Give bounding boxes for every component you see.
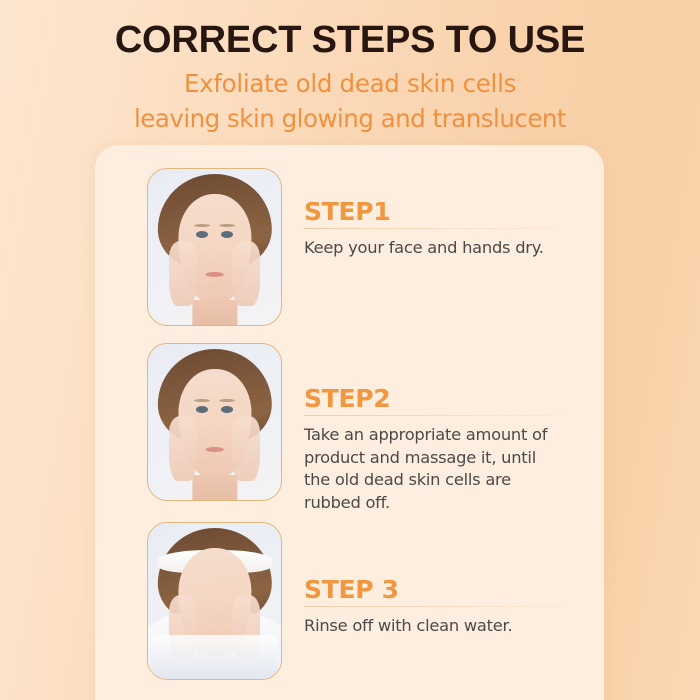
step-2-photo xyxy=(147,343,282,501)
eyebrow-right xyxy=(219,224,235,227)
step-3-body: Rinse off with clean water. xyxy=(304,607,548,638)
step-3-photo-image xyxy=(148,523,281,679)
step-1-text: STEP1 Keep your face and hands dry. xyxy=(282,168,604,260)
subtitle-line-2: leaving skin glowing and translucent xyxy=(0,98,700,133)
step-1-photo xyxy=(147,168,282,326)
steps-card: STEP1 Keep your face and hands dry. xyxy=(95,145,604,700)
eyebrow-left xyxy=(194,224,210,227)
step-item-1: STEP1 Keep your face and hands dry. xyxy=(95,168,604,326)
subtitle-line-1: Exfoliate old dead skin cells xyxy=(0,63,700,98)
hand-left xyxy=(169,241,197,307)
step-3-heading: STEP 3 xyxy=(304,576,586,603)
step-item-2: STEP2 Take an appropriate amount of prod… xyxy=(95,343,604,514)
step-1-body: Keep your face and hands dry. xyxy=(304,229,548,260)
neck-shape xyxy=(192,300,237,325)
step-1-heading: STEP1 xyxy=(304,198,586,225)
hand-right xyxy=(232,416,260,482)
poster-header: CORRECT STEPS TO USE Exfoliate old dead … xyxy=(0,0,700,133)
step-item-3: STEP 3 Rinse off with clean water. xyxy=(95,522,604,680)
step-3-text: STEP 3 Rinse off with clean water. xyxy=(282,522,604,638)
step-2-text: STEP2 Take an appropriate amount of prod… xyxy=(282,343,604,514)
step-2-body: Take an appropriate amount of product an… xyxy=(304,416,548,514)
eyebrow-right xyxy=(219,399,235,402)
page-title: CORRECT STEPS TO USE xyxy=(0,0,700,63)
neck-shape xyxy=(192,475,237,500)
hand-left xyxy=(169,416,197,482)
promo-poster: CORRECT STEPS TO USE Exfoliate old dead … xyxy=(0,0,700,700)
hand-right xyxy=(232,241,260,307)
basin-shape xyxy=(151,635,279,679)
step-1-photo-image xyxy=(148,169,281,325)
step-2-photo-image xyxy=(148,344,281,500)
step-3-photo xyxy=(147,522,282,680)
step-2-heading: STEP2 xyxy=(304,385,586,412)
eyebrow-left xyxy=(194,399,210,402)
